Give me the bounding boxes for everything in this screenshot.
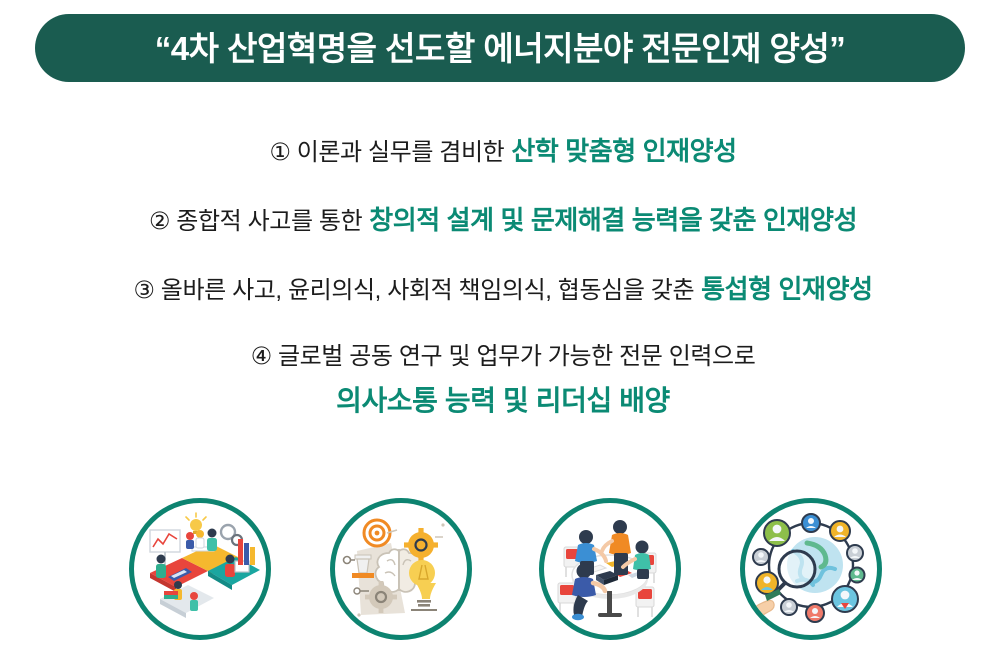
goal-2-accent-text: 창의적 설계 및 문제해결 능력을 갖춘 인재양성	[369, 205, 857, 235]
goal-3-plain-text: ③ 올바른 사고, 윤리의식, 사회적 책임의식, 협동심을 갖춘	[133, 277, 694, 304]
page-title: “4차 산업혁명을 선도할 에너지분야 전문인재 양성”	[155, 32, 845, 65]
industry-academia-collaboration-illustration	[134, 503, 266, 635]
illustration-row	[0, 498, 1006, 648]
goal-4-accent-text: 의사소통 능력 및 리더십 배양	[336, 385, 670, 416]
illustration-circle-3	[539, 498, 681, 640]
goal-item-1: ① 이론과 실무를 겸비한산학 맞춤형 인재양성	[0, 138, 1006, 165]
goal-item-4-second-line: 의사소통 능력 및 리더십 배양	[0, 387, 1006, 415]
illustration-circle-1	[129, 498, 271, 640]
illustration-circle-2	[330, 498, 472, 640]
goal-3-accent-text: 통섭형 인재양성	[701, 274, 872, 304]
header-banner: “4차 산업혁명을 선도할 에너지분야 전문인재 양성”	[35, 14, 965, 82]
goal-item-2: ② 종합적 사고를 통한창의적 설계 및 문제해결 능력을 갖춘 인재양성	[0, 207, 1006, 234]
goal-2-plain-text: ② 종합적 사고를 통한	[149, 208, 362, 235]
creative-thinking-brain-gears-illustration	[335, 503, 467, 635]
goal-list: ① 이론과 실무를 겸비한산학 맞춤형 인재양성 ② 종합적 사고를 통한창의적…	[0, 118, 1006, 415]
goal-4-plain-text: ④ 글로벌 공동 연구 및 업무가 가능한 전문 인력으로	[251, 343, 756, 370]
goal-item-3: ③ 올바른 사고, 윤리의식, 사회적 책임의식, 협동심을 갖춘통섭형 인재양…	[0, 276, 1006, 303]
goal-1-accent-text: 산학 맞춤형 인재양성	[511, 136, 736, 166]
global-network-people-illustration	[745, 503, 877, 635]
goal-item-4: ④ 글로벌 공동 연구 및 업무가 가능한 전문 인력으로	[0, 345, 1006, 369]
team-meeting-roundtable-illustration	[544, 503, 676, 635]
goal-1-plain-text: ① 이론과 실무를 겸비한	[269, 139, 504, 166]
illustration-circle-4	[740, 498, 882, 640]
infographic-page: “4차 산업혁명을 선도할 에너지분야 전문인재 양성” ① 이론과 실무를 겸…	[0, 0, 1006, 651]
